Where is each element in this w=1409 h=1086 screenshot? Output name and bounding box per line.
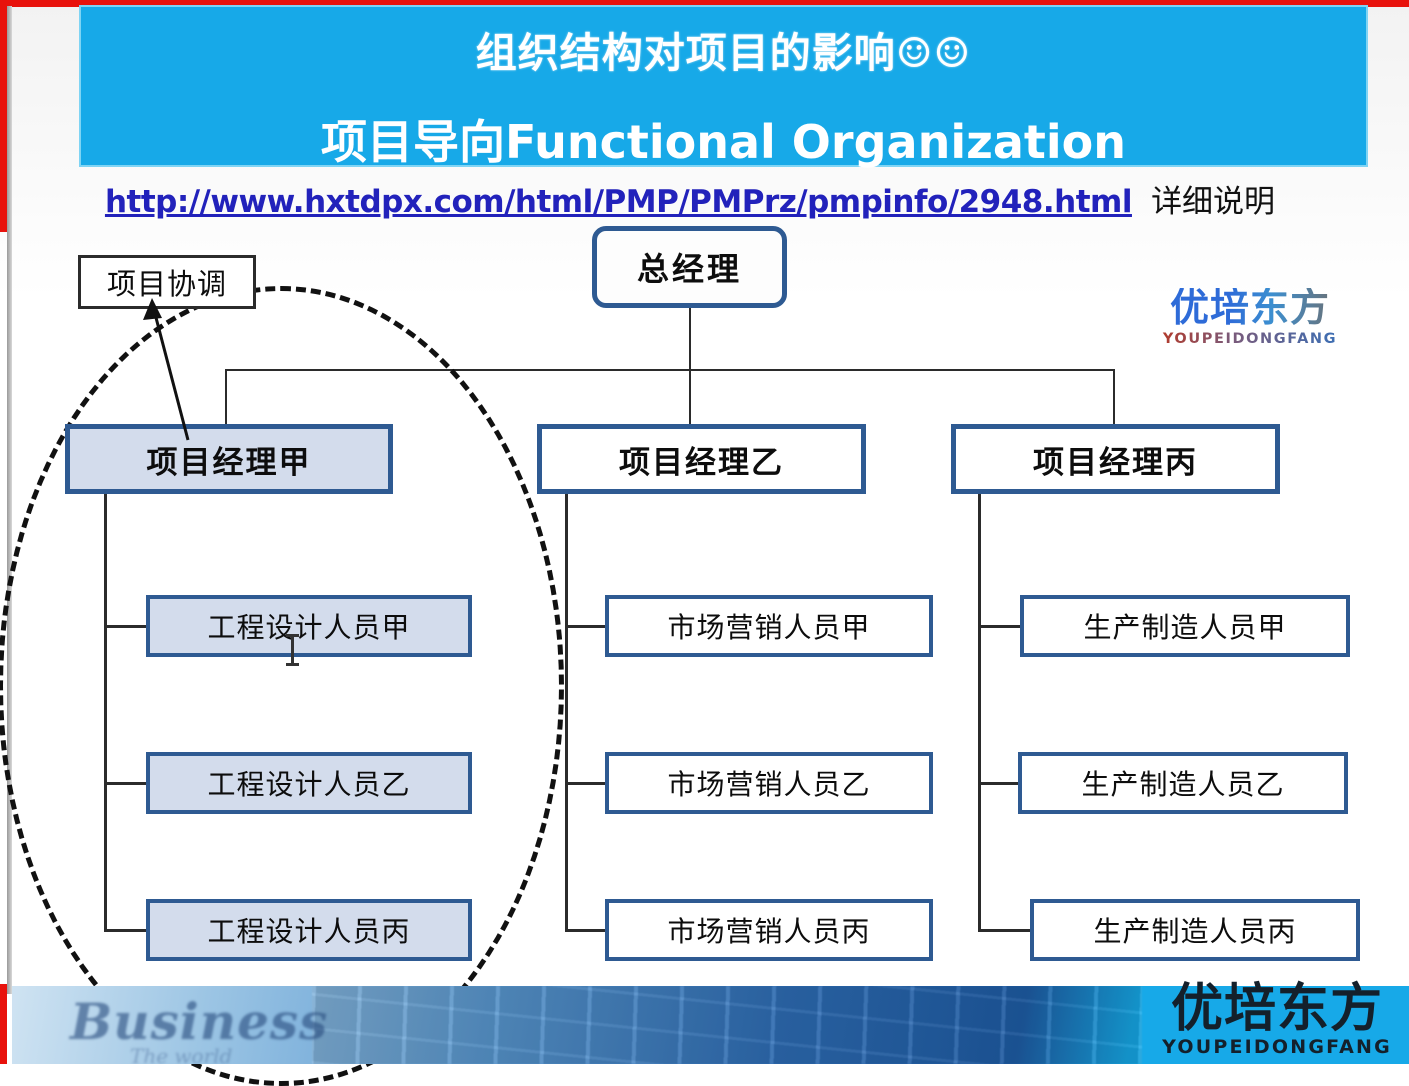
connector-drop-manager-3 — [1113, 369, 1115, 425]
connector-spine-column-2 — [565, 494, 568, 931]
connector-drop-manager-2 — [689, 369, 691, 425]
connector-branch-2-2 — [565, 782, 607, 785]
connector-branch-3-1 — [978, 625, 1022, 628]
brand-logo-footer: 优培东方 YOUPEIDONGFANG — [1152, 982, 1402, 1062]
connector-root-down — [689, 308, 691, 370]
org-node-general-manager[interactable]: 总经理 — [592, 226, 787, 308]
org-node-staff-2-2[interactable]: 市场营销人员乙 — [605, 752, 933, 814]
arrow-to-coordination-icon — [130, 292, 240, 442]
connector-branch-2-3 — [565, 929, 607, 932]
connector-branch-2-1 — [565, 625, 607, 628]
connector-branch-1-2 — [104, 782, 148, 785]
connector-spine-column-3 — [978, 494, 981, 931]
org-node-staff-3-1[interactable]: 生产制造人员甲 — [1020, 595, 1350, 657]
frame-left-gray-edge — [7, 6, 12, 994]
brand-logo-en-text: YOUPEIDONGFANG — [1160, 330, 1340, 348]
text-cursor-icon — [291, 634, 294, 666]
reference-note: 详细说明 — [1151, 184, 1275, 220]
footer-business-subtext: The world — [130, 1044, 232, 1064]
org-node-staff-1-2[interactable]: 工程设计人员乙 — [146, 752, 472, 814]
org-node-project-manager-2[interactable]: 项目经理乙 — [537, 424, 866, 494]
brand-logo-footer-en-text: YOUPEIDONGFANG — [1152, 1036, 1402, 1058]
slide-title-primary: 组织结构对项目的影响☺☺ — [79, 19, 1368, 79]
connector-branch-3-2 — [978, 782, 1020, 785]
connector-horizontal-bus — [225, 369, 1115, 371]
connector-spine-column-1 — [104, 494, 107, 931]
footer-business-text: Business — [70, 992, 328, 1051]
slide-title-banner: 组织结构对项目的影响☺☺ 项目导向Functional Organization — [79, 5, 1368, 167]
connector-branch-1-1 — [104, 625, 148, 628]
org-node-staff-2-3[interactable]: 市场营销人员丙 — [605, 899, 933, 961]
org-node-staff-1-1[interactable]: 工程设计人员甲 — [146, 595, 472, 657]
connector-branch-1-3 — [104, 929, 148, 932]
reference-url-link[interactable]: http://www.hxtdpx.com/html/PMP/PMPrz/pmp… — [105, 184, 1132, 220]
connector-branch-3-3 — [978, 929, 1032, 932]
org-node-project-manager-3[interactable]: 项目经理丙 — [951, 424, 1280, 494]
frame-left-red-bar-lower — [0, 984, 7, 1064]
brand-logo-watermark: 优培东方 YOUPEIDONGFANG — [1160, 288, 1340, 354]
brand-logo-footer-cn-text: 优培东方 — [1152, 982, 1402, 1036]
reference-link-row: http://www.hxtdpx.com/html/PMP/PMPrz/pmp… — [0, 176, 1380, 221]
org-node-staff-1-3[interactable]: 工程设计人员丙 — [146, 899, 472, 961]
org-node-staff-3-2[interactable]: 生产制造人员乙 — [1018, 752, 1348, 814]
org-node-staff-2-1[interactable]: 市场营销人员甲 — [605, 595, 933, 657]
brand-logo-cn-text: 优培东方 — [1160, 288, 1340, 330]
footer-keyboard-texture — [312, 986, 1142, 1064]
slide-title-secondary: 项目导向Functional Organization — [79, 106, 1368, 172]
org-node-staff-3-3[interactable]: 生产制造人员丙 — [1030, 899, 1360, 961]
dashed-highlight-ellipse — [0, 286, 564, 1086]
